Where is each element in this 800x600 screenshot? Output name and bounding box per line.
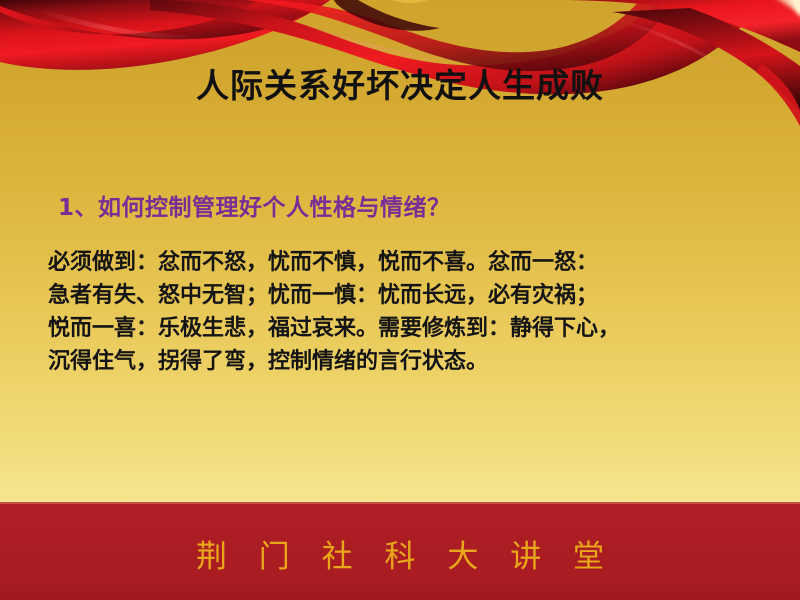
footer-top-edge bbox=[0, 502, 800, 504]
slide-body: 必须做到：忿而不怒，忧而不慎，悦而不喜。忿而一怒： 急者有失、怒中无智；忧而一慎… bbox=[48, 246, 758, 378]
body-line: 急者有失、怒中无智；忧而一慎：忧而长远，必有灾祸； bbox=[48, 279, 758, 312]
body-line: 必须做到：忿而不怒，忧而不慎，悦而不喜。忿而一怒： bbox=[48, 246, 758, 279]
presentation-slide: 人际关系好坏决定人生成败 1、如何控制管理好个人性格与情绪？ 必须做到：忿而不怒… bbox=[0, 0, 800, 600]
slide-title-text: 人际关系好坏决定人生成败 bbox=[196, 68, 604, 104]
slide-subtitle: 1、如何控制管理好个人性格与情绪？ bbox=[58, 188, 451, 222]
slide-subtitle-text: 1、如何控制管理好个人性格与情绪？ bbox=[58, 195, 451, 221]
red-silk-ribbon-banner bbox=[0, 0, 800, 130]
footer-organization-text: 荆 门 社 科 大 讲 堂 bbox=[185, 531, 615, 576]
light-ray bbox=[637, 0, 800, 10]
light-ray bbox=[596, 0, 800, 16]
light-ray bbox=[683, 0, 800, 14]
body-line: 悦而一喜：乐极生悲，福过哀来。需要修炼到：静得下心， bbox=[48, 312, 758, 345]
slide-title: 人际关系好坏决定人生成败 bbox=[0, 68, 800, 104]
footer-band: 荆 门 社 科 大 讲 堂 bbox=[0, 502, 800, 600]
light-ray bbox=[722, 0, 800, 16]
body-line: 沉得住气，拐得了弯，控制情绪的言行状态。 bbox=[48, 345, 758, 378]
